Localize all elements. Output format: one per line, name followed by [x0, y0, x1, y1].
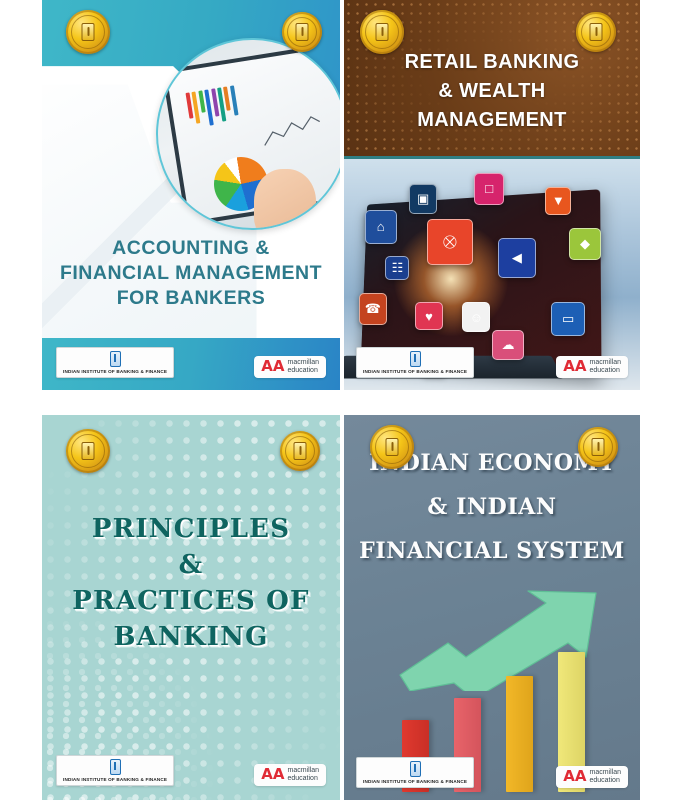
- bar-chart-graphic: [186, 85, 240, 128]
- mobile-lock-icon: ☎: [359, 293, 387, 325]
- iibf-mark-icon: [410, 351, 421, 367]
- iibf-seal-icon: [66, 10, 110, 54]
- macmillan-mark-icon: AA: [563, 359, 586, 374]
- institute-logo: INDIAN INSTITUTE OF BANKING & FINANCE: [56, 755, 174, 786]
- institute-logo: INDIAN INSTITUTE OF BANKING & FINANCE: [356, 757, 474, 788]
- macmillan-mark-icon: AA: [261, 767, 284, 782]
- book-cover-principles-practices-of-banking[interactable]: PRINCIPLES & PRACTICES OF BANKING INDIAN…: [42, 415, 340, 800]
- iibf-mark-icon: [110, 351, 121, 367]
- cover1-analytics-photo: [156, 38, 340, 230]
- institute-logo: INDIAN INSTITUTE OF BANKING & FINANCE: [356, 347, 474, 378]
- megaphone-icon: ◀: [498, 238, 536, 278]
- cart-icon: ⛒: [427, 219, 473, 265]
- publisher-logo: AA macmillaneducation: [556, 766, 628, 788]
- iibf-seal-icon: [578, 427, 618, 467]
- iibf-mark-icon: [110, 759, 121, 775]
- bar-3: [506, 676, 533, 792]
- cloud-icon: ☁: [492, 330, 524, 360]
- iibf-seal-icon: [282, 12, 322, 52]
- tag-icon: ◆: [569, 228, 601, 260]
- iibf-seal-icon: [360, 10, 404, 54]
- publisher-logo: AA macmillaneducation: [254, 764, 326, 786]
- shield-icon: ▼: [545, 187, 571, 215]
- support-icon: ♥: [415, 302, 443, 330]
- book-cover-retail-banking-wealth-management[interactable]: RETAIL BANKING & WEALTH MANAGEMENT ⌂▣☷☎⛒…: [344, 0, 640, 390]
- cover2-title: RETAIL BANKING & WEALTH MANAGEMENT: [344, 48, 640, 135]
- photo-icon: □: [474, 173, 504, 205]
- truck-icon: ▭: [551, 302, 585, 336]
- publisher-logo: AA macmillaneducation: [254, 356, 326, 378]
- macmillan-mark-icon: AA: [563, 769, 586, 784]
- publisher-logo: AA macmillaneducation: [556, 356, 628, 378]
- iibf-seal-icon: [280, 431, 320, 471]
- iibf-mark-icon: [410, 761, 421, 777]
- book-cover-indian-economy-financial-system[interactable]: INDIAN ECONOMY & INDIAN FINANCIAL SYSTEM…: [344, 415, 640, 800]
- user-icon: ☺: [462, 302, 490, 332]
- hand-graphic: [254, 169, 316, 230]
- institute-logo: INDIAN INSTITUTE OF BANKING & FINANCE: [56, 347, 174, 378]
- monitor-icon: ▣: [409, 184, 437, 214]
- book-set-grid: ACCOUNTING & FINANCIAL MANAGEMENT FOR BA…: [0, 0, 683, 800]
- iibf-seal-icon: [370, 425, 414, 469]
- iibf-seal-icon: [66, 429, 110, 473]
- cover1-title: ACCOUNTING & FINANCIAL MANAGEMENT FOR BA…: [42, 236, 340, 311]
- cover3-title: PRINCIPLES & PRACTICES OF BANKING: [42, 511, 340, 655]
- globe-icon: ☷: [385, 256, 409, 280]
- house-icon: ⌂: [365, 210, 397, 244]
- book-cover-accounting-financial-management[interactable]: ACCOUNTING & FINANCIAL MANAGEMENT FOR BA…: [42, 0, 340, 390]
- macmillan-mark-icon: AA: [261, 359, 284, 374]
- iibf-seal-icon: [576, 12, 616, 52]
